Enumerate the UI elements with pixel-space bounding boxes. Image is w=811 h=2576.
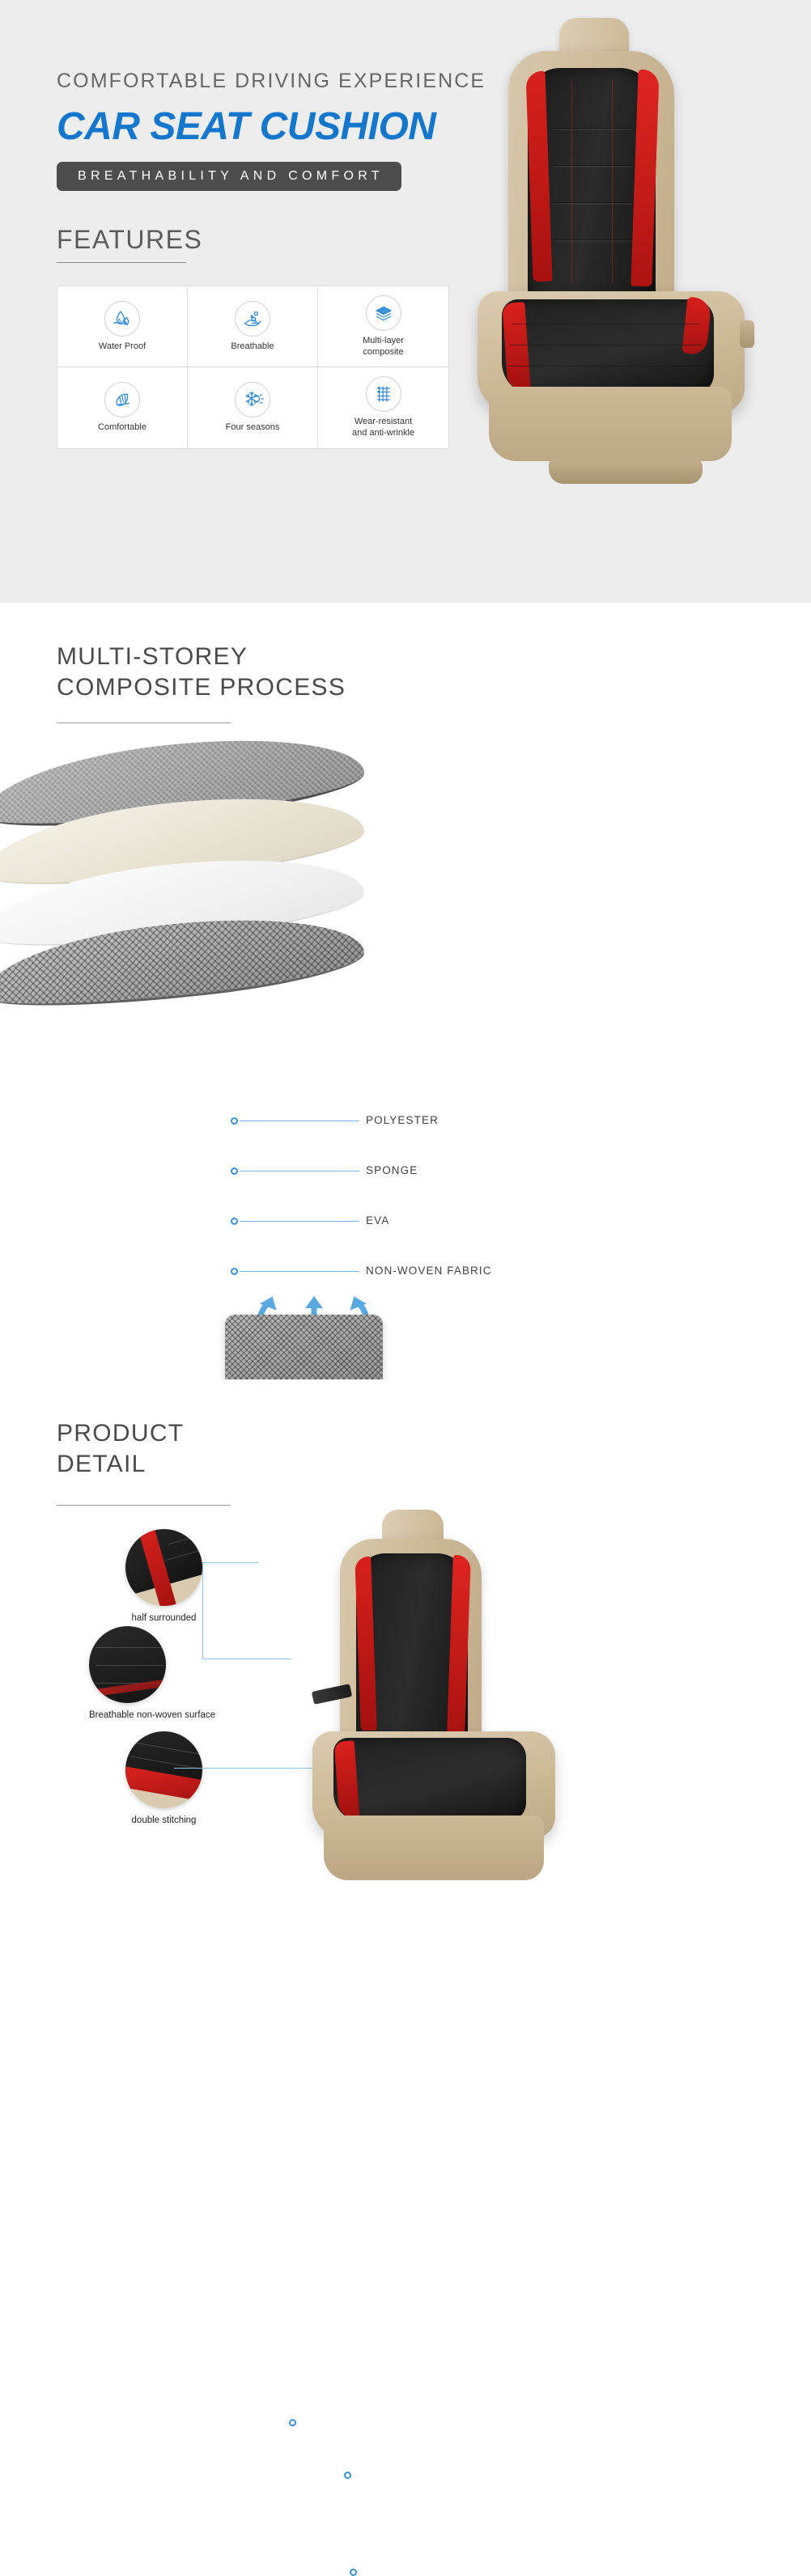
detail-product-photo xyxy=(267,1489,672,1974)
detail-thumbnail xyxy=(125,1731,202,1808)
detail-cushion-seat-pad xyxy=(333,1738,526,1822)
feature-label: Breathable xyxy=(231,341,274,353)
water-drop-icon xyxy=(104,301,140,337)
feature-card-four-seasons[interactable]: Four seasons xyxy=(188,367,318,448)
detail-title-line2: DETAIL xyxy=(57,1449,184,1480)
detail-item-half-surrounded[interactable]: half surrounded xyxy=(125,1529,202,1623)
detail-item-label: half surrounded xyxy=(125,1613,202,1623)
seat-rail xyxy=(549,460,703,484)
detail-thumbnail xyxy=(89,1626,166,1703)
feature-label: Four seasons xyxy=(226,422,280,434)
layer-non-woven-fabric xyxy=(0,924,364,998)
detail-item-label: double stitching xyxy=(125,1815,202,1825)
seat-adjust-knob xyxy=(740,320,754,348)
detail-hotspot-dot xyxy=(289,2419,296,2426)
feature-card-water-proof[interactable]: Water Proof xyxy=(57,286,188,367)
layer-label-sponge: SPONGE xyxy=(366,1164,418,1176)
detail-thumbnail xyxy=(125,1529,202,1606)
snowflake-sun-icon xyxy=(235,382,270,417)
hero-sub-banner: BREATHABILITY AND COMFORT xyxy=(57,162,401,191)
detail-title-rule xyxy=(57,1505,231,1506)
layer-leader-line xyxy=(240,1121,359,1121)
detail-hotspot-dot xyxy=(344,2472,351,2479)
seat-base-lower xyxy=(489,387,732,461)
cushion-seam xyxy=(554,202,631,205)
feather-icon xyxy=(104,382,140,417)
layer-leader-line xyxy=(240,1171,359,1171)
detail-connector-line xyxy=(202,1562,259,1563)
composite-title-rule xyxy=(57,722,231,723)
layer-callout-dot-eva xyxy=(231,1218,238,1225)
cushion-seam xyxy=(554,239,631,242)
cushion-seam xyxy=(554,128,631,130)
detail-item-double-stitching[interactable]: double stitching xyxy=(125,1731,202,1825)
layer-label-polyester: POLYESTER xyxy=(366,1114,439,1126)
hero-product-photo xyxy=(427,6,811,603)
layer-leader-line xyxy=(240,1221,359,1222)
detail-title-line1: PRODUCT xyxy=(57,1418,184,1449)
detail-hotspot-dot xyxy=(350,2569,357,2576)
feature-label: Water Proof xyxy=(99,341,146,353)
layer-leader-line xyxy=(240,1271,359,1272)
seat-quilt-line xyxy=(510,345,703,345)
layer-label-non-woven-fabric: NON-WOVEN FABRIC xyxy=(366,1265,492,1277)
composite-title: MULTI-STOREY COMPOSITE PROCESS xyxy=(57,642,346,704)
cushion-seam xyxy=(554,165,631,167)
layer-callout-dot-sponge xyxy=(231,1167,238,1175)
detail-seat-base-lower xyxy=(324,1815,544,1880)
detail-item-breathable-surface[interactable]: Breathable non-woven surface xyxy=(89,1626,215,1720)
layers-icon xyxy=(366,295,401,331)
detail-item-label: Breathable non-woven surface xyxy=(89,1710,215,1720)
grid-mesh-icon xyxy=(366,376,401,412)
composite-title-line2: COMPOSITE PROCESS xyxy=(57,672,346,703)
features-heading-rule xyxy=(57,262,186,263)
feature-label: Multi-layer composite xyxy=(346,336,421,358)
exploded-layers-diagram xyxy=(0,744,405,1068)
feature-label: Comfortable xyxy=(98,422,146,434)
feature-label: Wear-resistant and anti-wrinkle xyxy=(346,417,421,439)
hero-section: COMFORTABLE DRIVING EXPERIENCE CAR SEAT … xyxy=(0,0,811,603)
layer-label-eva: EVA xyxy=(366,1214,389,1227)
seat-quilt-line xyxy=(512,324,699,324)
feature-card-comfortable[interactable]: Comfortable xyxy=(57,367,188,448)
composite-title-line1: MULTI-STOREY xyxy=(57,642,346,672)
composite-process-section: MULTI-STOREY COMPOSITE PROCESS POLYESTER… xyxy=(0,603,811,1379)
cushion-stitch xyxy=(571,81,572,283)
hand-bubbles-icon xyxy=(235,301,270,337)
features-grid: Water Proof Breathable xyxy=(57,286,449,449)
product-detail-section: PRODUCT DETAIL half surrounded Breathabl… xyxy=(0,1379,811,1990)
feature-card-breathable[interactable]: Breathable xyxy=(188,286,318,367)
seat-quilt-line xyxy=(508,366,706,366)
layer-callout-dot-polyester xyxy=(231,1117,238,1125)
detail-title: PRODUCT DETAIL xyxy=(57,1418,184,1481)
cushion-stitch xyxy=(612,81,613,283)
layer-callout-dot-non-woven xyxy=(231,1268,238,1275)
detail-connector-line xyxy=(202,1562,203,1659)
